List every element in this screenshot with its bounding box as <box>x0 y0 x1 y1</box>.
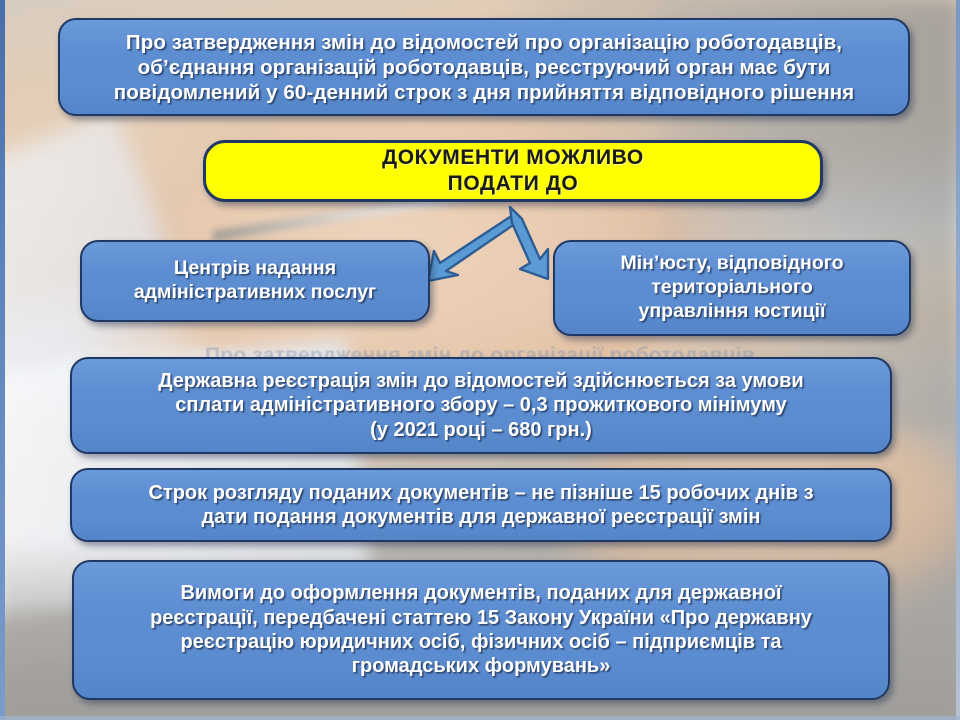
slide-canvas: Про затвердження змін до організації роб… <box>0 0 960 720</box>
submission-options-header-text: ДОКУМЕНТИ МОЖЛИВО ПОДАТИ ДО <box>206 145 820 198</box>
registration-fee-text: Державна реєстрація змін до відомостей з… <box>72 369 890 442</box>
option-ministry-of-justice-box: Мін’юсту, відповідного територіального у… <box>553 240 911 336</box>
option-administrative-service-centers-text: Центрів надання адміністративних послуг <box>82 257 428 305</box>
review-term-text: Строк розгляду поданих документів – не п… <box>72 481 890 530</box>
option-ministry-of-justice-text: Мін’юсту, відповідного територіального у… <box>555 252 909 323</box>
review-term-box: Строк розгляду поданих документів – не п… <box>70 468 892 542</box>
notice-period-box: Про затвердження змін до відомостей про … <box>58 18 910 116</box>
slide-edge-bottom <box>0 716 960 720</box>
submission-options-header-box: ДОКУМЕНТИ МОЖЛИВО ПОДАТИ ДО <box>203 140 823 202</box>
slide-edge-left <box>0 0 5 720</box>
notice-period-text: Про затвердження змін до відомостей про … <box>60 30 908 105</box>
document-requirements-box: Вимоги до оформлення документів, поданих… <box>72 560 890 700</box>
registration-fee-box: Державна реєстрація змін до відомостей з… <box>70 357 892 454</box>
double-headed-down-arrow-icon <box>414 201 566 285</box>
slide-edge-right <box>956 0 960 720</box>
option-administrative-service-centers-box: Центрів надання адміністративних послуг <box>80 240 430 322</box>
document-requirements-text: Вимоги до оформлення документів, поданих… <box>74 581 888 679</box>
